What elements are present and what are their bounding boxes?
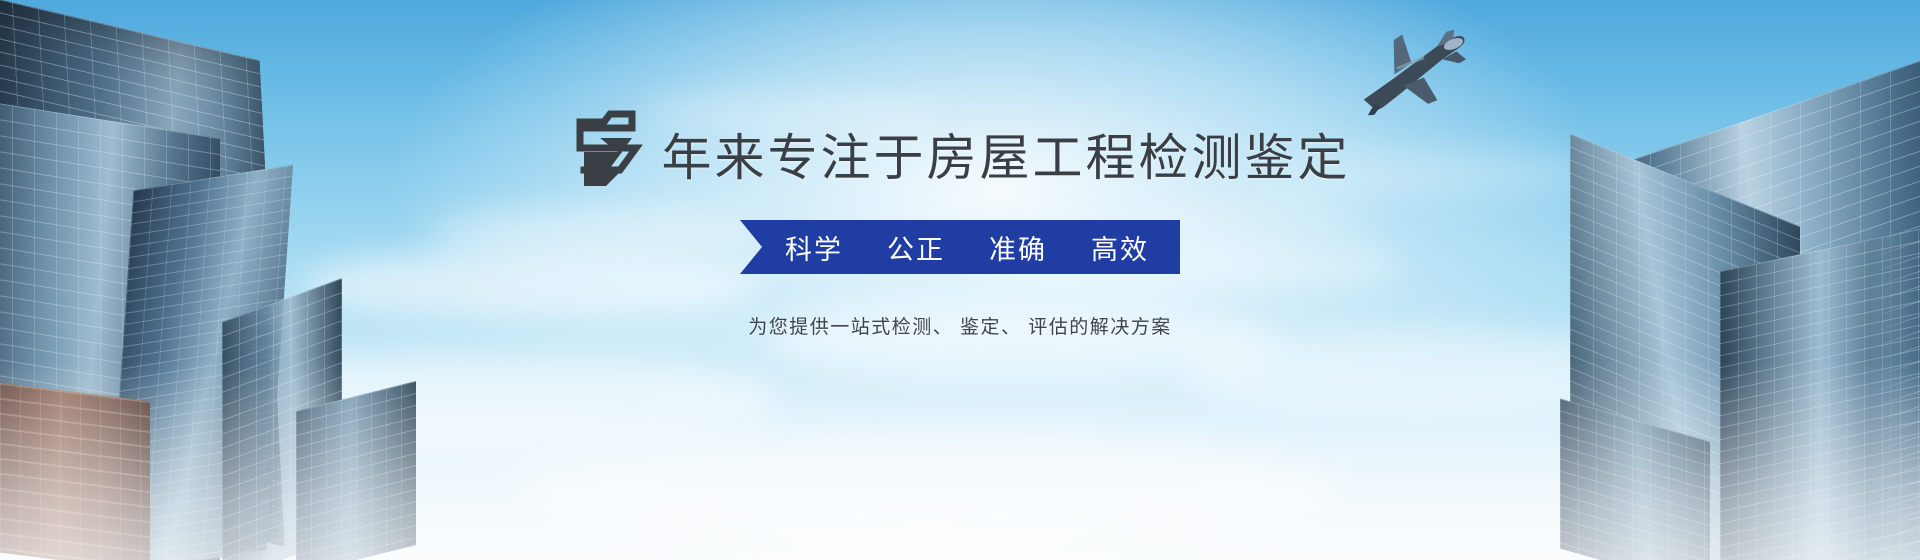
slogan-ribbon: 科学 公正 准确 高效 [740,220,1180,274]
ribbon-word-2: 公正 [887,228,945,267]
ribbon-body: 科学 公正 准确 高效 [740,220,1180,274]
headline-row: 年来专注于房屋工程检测鉴定 [570,108,1351,186]
ribbon-word-1: 科学 [785,228,843,267]
cloud [430,206,760,258]
ribbon-words: 科学 公正 准确 高效 [757,228,1163,267]
ribbon-word-3: 准确 [989,228,1047,267]
duo-character-icon [570,108,658,186]
ribbon-word-4: 高效 [1091,228,1149,267]
horizon-haze [0,360,1920,560]
cloud [300,250,760,320]
hero-banner: 年来专注于房屋工程检测鉴定 科学 公正 准确 高效 为您提供一站式检测、 鉴定、… [0,0,1920,560]
page-title: 年来专注于房屋工程检测鉴定 [662,130,1351,186]
page-subtitle: 为您提供一站式检测、 鉴定、 评估的解决方案 [748,312,1172,339]
